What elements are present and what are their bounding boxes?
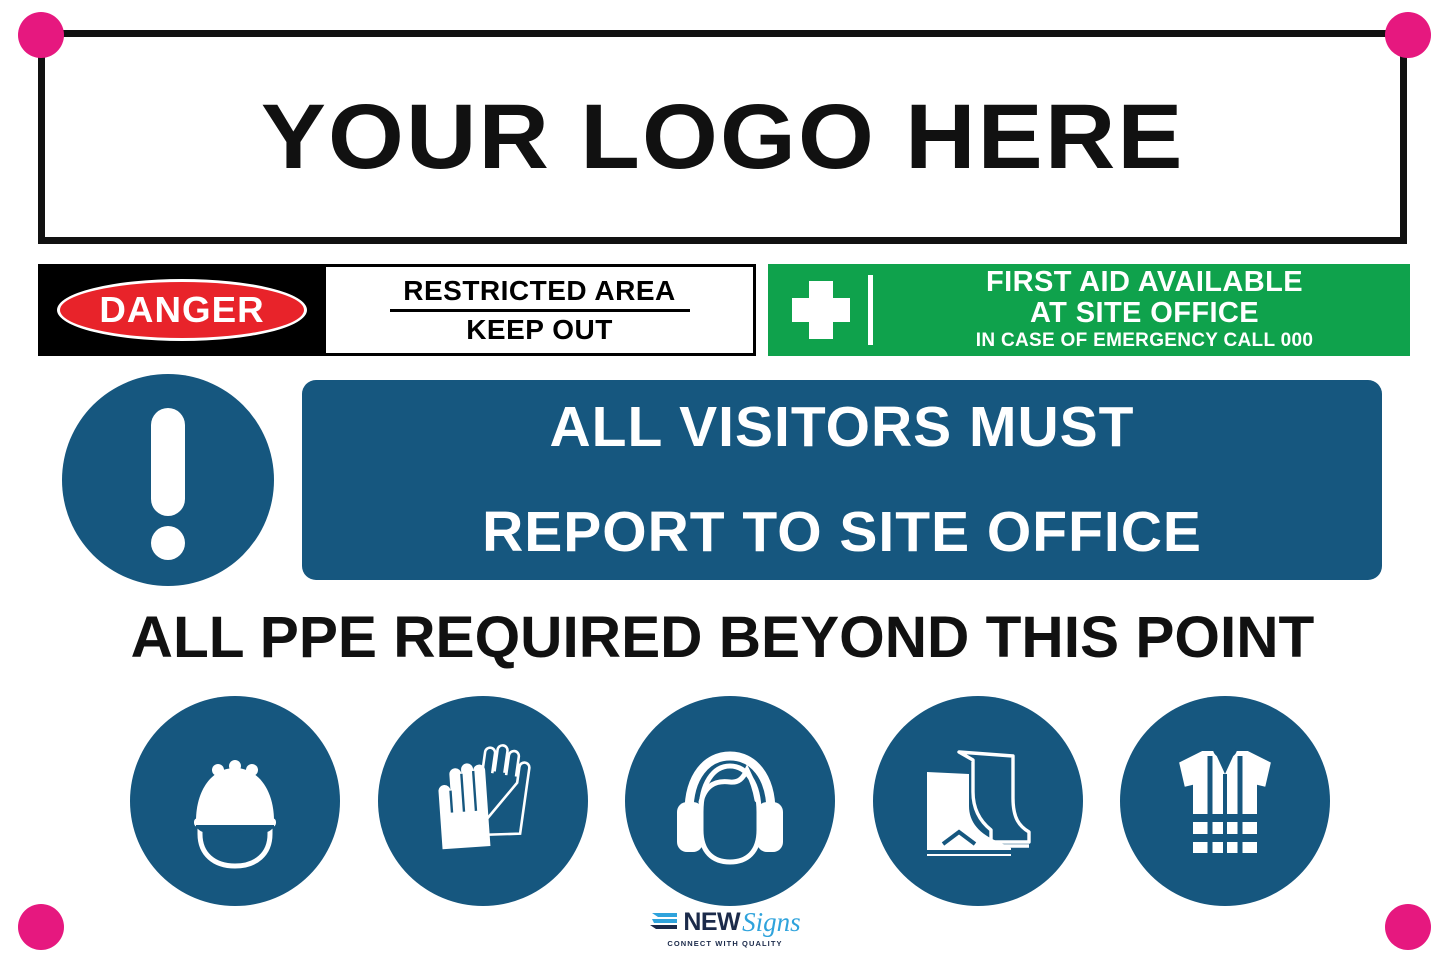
first-aid-cross-icon [786,274,858,346]
mounting-hole-top-right [1385,12,1431,58]
logo-placeholder-box: YOUR LOGO HERE [38,30,1407,244]
mandatory-message-box: ALL VISITORS MUST REPORT TO SITE OFFICE [302,380,1382,580]
danger-label: DANGER [99,289,264,331]
brand-word-signs: Signs [742,909,801,936]
restricted-area-line2: KEEP OUT [466,314,613,345]
exclamation-bar [151,408,185,516]
ear-protection-icon [625,696,835,906]
safety-sign-canvas: YOUR LOGO HERE DANGER RESTRICTED AREA KE… [0,0,1445,964]
brand-logo-row: NEW Signs [649,906,800,938]
restricted-area-line1: RESTRICTED AREA [403,275,675,306]
hard-hat-icon [130,696,340,906]
ppe-icon-row [130,692,1330,910]
brand-tagline: CONNECT WITH QUALITY [667,939,782,948]
logo-placeholder-text: YOUR LOGO HERE [261,85,1185,190]
newsigns-brand-logo: NEW Signs CONNECT WITH QUALITY [655,906,795,954]
exclamation-dot [151,526,185,560]
mandatory-banner: ALL VISITORS MUST REPORT TO SITE OFFICE [62,374,1382,586]
danger-badge-oval: DANGER [57,279,307,341]
exclamation-mark-icon [62,374,274,586]
first-aid-text-block: FIRST AID AVAILABLE AT SITE OFFICE IN CA… [889,267,1410,352]
first-aid-line1: FIRST AID AVAILABLE [889,267,1400,298]
mandatory-line2: REPORT TO SITE OFFICE [482,501,1202,564]
strip-gap [756,264,768,356]
safety-gloves-icon [378,696,588,906]
danger-badge-panel: DANGER [38,264,326,356]
mounting-hole-bottom-left [18,904,64,950]
safety-boots-icon [873,696,1083,906]
first-aid-line3: IN CASE OF EMERGENCY CALL 000 [889,329,1400,353]
first-aid-vertical-divider [868,275,873,345]
brand-mark-icon [649,910,679,934]
mandatory-line1: ALL VISITORS MUST [550,396,1135,459]
mounting-hole-top-left [18,12,64,58]
first-aid-line2: AT SITE OFFICE [889,298,1400,329]
ppe-headline: ALL PPE REQUIRED BEYOND THIS POINT [0,604,1445,671]
brand-word-new: NEW [683,910,740,935]
hi-vis-vest-icon [1120,696,1330,906]
restricted-area-divider [390,309,690,312]
danger-firstaid-strip: DANGER RESTRICTED AREA KEEP OUT FIRST AI… [38,264,1410,356]
first-aid-panel: FIRST AID AVAILABLE AT SITE OFFICE IN CA… [768,264,1410,356]
mounting-hole-bottom-right [1385,904,1431,950]
cross-vertical-bar [809,281,833,339]
restricted-area-panel: RESTRICTED AREA KEEP OUT [326,264,756,356]
